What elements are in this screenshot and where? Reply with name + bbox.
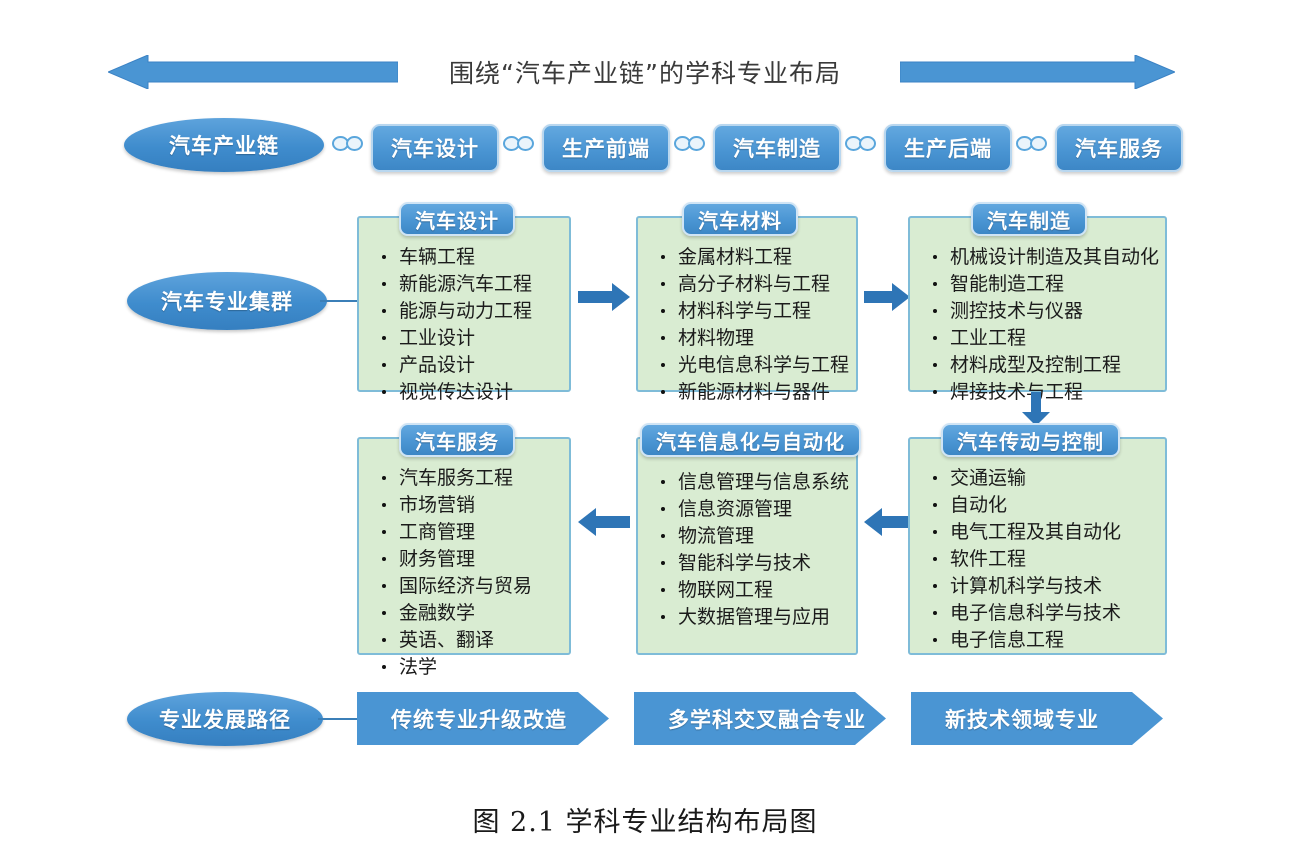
chain-stage-label: 汽车制造 [733, 133, 821, 163]
list-item: 信息资源管理 [656, 496, 848, 523]
list-item: 物联网工程 [656, 577, 848, 604]
arrow-materials-to-manufacturing-icon [864, 283, 910, 311]
list-item: 测控技术与仪器 [928, 298, 1157, 325]
cluster-root-leader-line [320, 300, 360, 302]
chain-stage-label: 汽车服务 [1075, 133, 1163, 163]
list-item: 新能源材料与器件 [656, 379, 848, 406]
list-item: 电子信息工程 [928, 627, 1157, 654]
arrow-informatization-to-service-icon [578, 508, 630, 536]
list-item: 英语、翻译 [377, 627, 561, 654]
group-panel-design: 车辆工程 新能源汽车工程 能源与动力工程 工业设计 产品设计 视觉传达设计 [357, 216, 571, 392]
chain-stage-label: 汽车设计 [391, 133, 479, 163]
list-item: 工业设计 [377, 325, 561, 352]
list-item: 产品设计 [377, 352, 561, 379]
figure-caption: 图 2.1 学科专业结构布局图 [0, 800, 1290, 839]
chain-link-icon [674, 134, 712, 156]
list-item: 计算机科学与技术 [928, 573, 1157, 600]
list-item: 汽车服务工程 [377, 465, 561, 492]
path-chevron-traditional-upgrade[interactable]: 传统专业升级改造 [357, 692, 609, 745]
list-item: 市场营销 [377, 492, 561, 519]
group-title-informatization[interactable]: 汽车信息化与自动化 [640, 423, 861, 457]
group-title-design[interactable]: 汽车设计 [399, 202, 515, 236]
path-chevron-label: 传统专业升级改造 [357, 704, 567, 734]
chain-stage-manufacturing[interactable]: 汽车制造 [713, 124, 841, 172]
group-title-manufacturing[interactable]: 汽车制造 [971, 202, 1087, 236]
list-item: 视觉传达设计 [377, 379, 561, 406]
list-item: 机械设计制造及其自动化 [928, 244, 1157, 271]
list-item: 能源与动力工程 [377, 298, 561, 325]
list-item: 金属材料工程 [656, 244, 848, 271]
list-item: 高分子材料与工程 [656, 271, 848, 298]
chain-root-ellipse[interactable]: 汽车产业链 [124, 118, 324, 172]
list-item: 物流管理 [656, 523, 848, 550]
cluster-root-ellipse[interactable]: 汽车专业集群 [127, 272, 327, 330]
list-item: 软件工程 [928, 546, 1157, 573]
list-item: 自动化 [928, 492, 1157, 519]
path-chevron-interdisciplinary[interactable]: 多学科交叉融合专业 [634, 692, 886, 745]
list-item: 财务管理 [377, 546, 561, 573]
arrow-design-to-materials-icon [578, 283, 630, 311]
group-panel-service: 汽车服务工程 市场营销 工商管理 财务管理 国际经济与贸易 金融数学 英语、翻译… [357, 437, 571, 655]
page-title: 围绕“汽车产业链”的学科专业布局 [400, 52, 890, 92]
chain-link-icon [845, 134, 883, 156]
group-title-transmission[interactable]: 汽车传动与控制 [941, 423, 1120, 457]
chain-stage-front-production[interactable]: 生产前端 [542, 124, 670, 172]
chain-stage-label: 生产后端 [904, 133, 992, 163]
list-item: 电子信息科学与技术 [928, 600, 1157, 627]
group-panel-informatization: 信息管理与信息系统 信息资源管理 物流管理 智能科学与技术 物联网工程 大数据管… [636, 437, 858, 655]
paths-root-leader-line [318, 718, 360, 720]
list-item: 国际经济与贸易 [377, 573, 561, 600]
list-item: 大数据管理与应用 [656, 604, 848, 631]
list-item: 法学 [377, 654, 561, 681]
path-chevron-label: 多学科交叉融合专业 [634, 704, 866, 734]
chain-root-label: 汽车产业链 [169, 130, 279, 160]
list-item: 工商管理 [377, 519, 561, 546]
chain-link-icon [1016, 134, 1054, 156]
cluster-root-label: 汽车专业集群 [161, 286, 293, 316]
chain-stage-back-production[interactable]: 生产后端 [884, 124, 1012, 172]
list-item: 材料物理 [656, 325, 848, 352]
list-item: 金融数学 [377, 600, 561, 627]
list-item: 工业工程 [928, 325, 1157, 352]
list-item: 新能源汽车工程 [377, 271, 561, 298]
list-item: 电气工程及其自动化 [928, 519, 1157, 546]
path-chevron-label: 新技术领域专业 [911, 704, 1099, 734]
paths-root-label: 专业发展路径 [159, 704, 291, 734]
chain-stage-design[interactable]: 汽车设计 [371, 124, 499, 172]
diagram-canvas: 围绕“汽车产业链”的学科专业布局 汽车产业链 汽车设计 生产前端 汽车制造 生产… [0, 0, 1290, 866]
list-item: 信息管理与信息系统 [656, 469, 848, 496]
list-item: 材料成型及控制工程 [928, 352, 1157, 379]
arrow-manufacturing-to-transmission-icon [1022, 392, 1050, 426]
chain-link-icon [503, 134, 541, 156]
group-panel-materials: 金属材料工程 高分子材料与工程 材料科学与工程 材料物理 光电信息科学与工程 新… [636, 216, 858, 392]
chain-link-icon [332, 134, 370, 156]
chain-stage-label: 生产前端 [562, 133, 650, 163]
list-item: 智能科学与技术 [656, 550, 848, 577]
group-title-materials[interactable]: 汽车材料 [682, 202, 798, 236]
list-item: 智能制造工程 [928, 271, 1157, 298]
list-item: 交通运输 [928, 465, 1157, 492]
arrow-transmission-to-informatization-icon [864, 508, 910, 536]
list-item: 车辆工程 [377, 244, 561, 271]
arrow-right-icon [900, 55, 1175, 89]
group-panel-transmission: 交通运输 自动化 电气工程及其自动化 软件工程 计算机科学与技术 电子信息科学与… [908, 437, 1167, 655]
list-item: 材料科学与工程 [656, 298, 848, 325]
path-chevron-new-technology[interactable]: 新技术领域专业 [911, 692, 1163, 745]
group-title-service[interactable]: 汽车服务 [399, 423, 515, 457]
group-panel-manufacturing: 机械设计制造及其自动化 智能制造工程 测控技术与仪器 工业工程 材料成型及控制工… [908, 216, 1167, 392]
list-item: 光电信息科学与工程 [656, 352, 848, 379]
paths-root-ellipse[interactable]: 专业发展路径 [127, 692, 323, 746]
chain-stage-service[interactable]: 汽车服务 [1055, 124, 1183, 172]
arrow-left-icon [108, 55, 398, 89]
